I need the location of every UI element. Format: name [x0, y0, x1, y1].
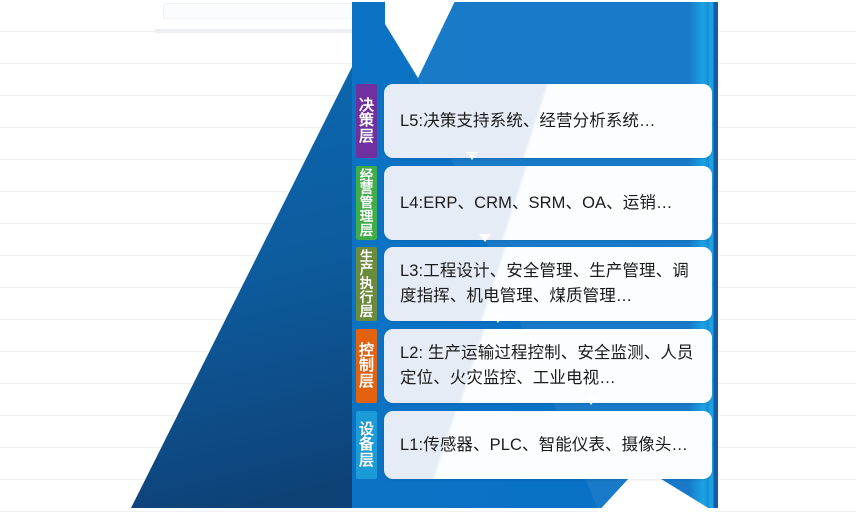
layer-text-L5: L5:决策支持系统、经营分析系统…	[400, 109, 666, 134]
layer-rows: 决 策 层 L5:决策支持系统、经营分析系统… 经 营 管 理 层 L4:ERP…	[0, 0, 856, 514]
layer-tag-char: 层	[359, 453, 374, 468]
layer-card-L5[interactable]: L5:决策支持系统、经营分析系统…	[384, 84, 712, 158]
layer-row-L5[interactable]: 决 策 层 L5:决策支持系统、经营分析系统…	[356, 84, 712, 158]
layer-row-L2[interactable]: 控 制 层 L2: 生产运输过程控制、安全监测、人员定位、火灾监控、工业电视…	[356, 329, 712, 403]
layer-text-L4: L4:ERP、CRM、SRM、OA、运销…	[400, 191, 683, 216]
layer-caret-L5	[466, 152, 478, 160]
layer-tag-char: 设	[359, 422, 374, 437]
layer-tag-L2: 控 制 层	[356, 329, 377, 403]
layer-text-L1: L1:传感器、PLC、智能仪表、摄像头…	[400, 433, 698, 458]
layer-tag-char: 制	[359, 358, 374, 373]
layer-caret-L4	[479, 234, 491, 242]
layer-row-L1[interactable]: 设 备 层 L1:传感器、PLC、智能仪表、摄像头…	[356, 411, 712, 479]
layer-tag-char: 管	[360, 196, 374, 210]
layer-caret-L3	[492, 315, 504, 323]
layer-row-L4[interactable]: 经 营 管 理 层 L4:ERP、CRM、SRM、OA、运销…	[356, 166, 712, 240]
layer-tag-L3: 生 产 执 行 层	[356, 247, 377, 321]
layer-tag-char: 决	[359, 98, 374, 113]
layer-caret-L2	[585, 397, 597, 405]
layer-tag-char: 控	[359, 343, 374, 358]
layer-card-L4[interactable]: L4:ERP、CRM、SRM、OA、运销…	[384, 166, 712, 240]
layer-tag-char: 层	[360, 305, 374, 319]
layer-card-L3[interactable]: L3:工程设计、安全管理、生产管理、调度指挥、机电管理、煤质管理…	[384, 247, 712, 321]
layer-tag-char: 备	[359, 437, 374, 452]
layer-tag-L4: 经 营 管 理 层	[356, 166, 377, 240]
layer-tag-char: 执	[360, 277, 374, 291]
layer-tag-char: 策	[359, 113, 374, 128]
layer-tag-L5: 决 策 层	[356, 84, 377, 158]
layer-row-L3[interactable]: 生 产 执 行 层 L3:工程设计、安全管理、生产管理、调度指挥、机电管理、煤质…	[356, 247, 712, 321]
diagram-canvas: 决 策 层 L5:决策支持系统、经营分析系统… 经 营 管 理 层 L4:ERP…	[0, 0, 856, 514]
layer-tag-char: 层	[359, 129, 374, 144]
layer-text-L2: L2: 生产运输过程控制、安全监测、人员定位、火灾监控、工业电视…	[400, 341, 712, 391]
layer-card-L1[interactable]: L1:传感器、PLC、智能仪表、摄像头…	[384, 411, 712, 479]
layer-card-L2[interactable]: L2: 生产运输过程控制、安全监测、人员定位、火灾监控、工业电视…	[384, 329, 712, 403]
layer-tag-char: 行	[360, 291, 374, 305]
layer-tag-char: 理	[360, 210, 374, 224]
layer-tag-char: 层	[360, 224, 374, 238]
layer-tag-char: 层	[359, 374, 374, 389]
layer-text-L3: L3:工程设计、安全管理、生产管理、调度指挥、机电管理、煤质管理…	[400, 259, 712, 309]
layer-tag-L1: 设 备 层	[356, 411, 377, 479]
